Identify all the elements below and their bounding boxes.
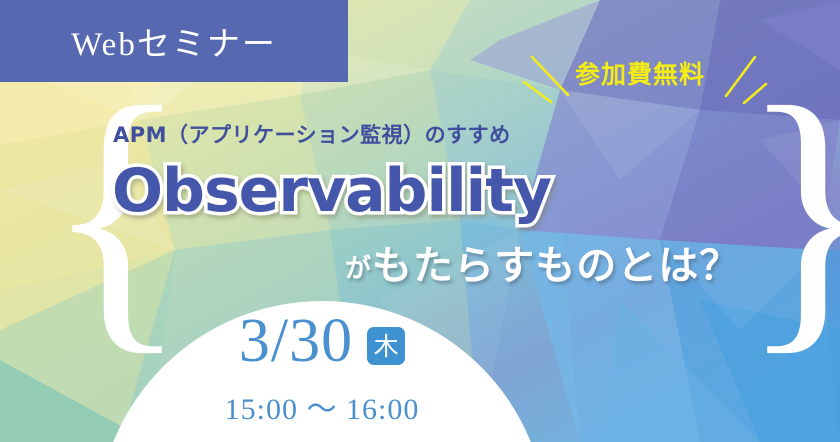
slash-right-long: [726, 57, 755, 96]
subtitle-text: がもたらすものとは？: [345, 233, 740, 291]
subtitle-rest: もたらすものとは？: [372, 243, 740, 288]
slash-left-long: [532, 57, 568, 95]
event-date: 3/30: [239, 310, 353, 372]
free-admission-label: 参加費無料: [575, 55, 705, 91]
subtitle-particle: が: [345, 254, 372, 283]
weekday-label: 木: [374, 334, 399, 359]
date-row: 3/30 木: [97, 310, 547, 372]
slash-left-short: [524, 82, 551, 102]
webinar-banner: { } Webセミナー 参加費無料 APM（アプリケーション監視）のすすめ Ob…: [0, 0, 840, 442]
kicker-text: APM（アプリケーション監視）のすすめ: [113, 119, 511, 149]
event-time: 15:00 〜 16:00: [97, 384, 547, 428]
schedule-block: 3/30 木 15:00 〜 16:00: [97, 310, 547, 428]
page-title: Observability: [112, 156, 551, 226]
weekday-badge: 木: [367, 327, 405, 365]
slash-right-short: [744, 84, 766, 103]
